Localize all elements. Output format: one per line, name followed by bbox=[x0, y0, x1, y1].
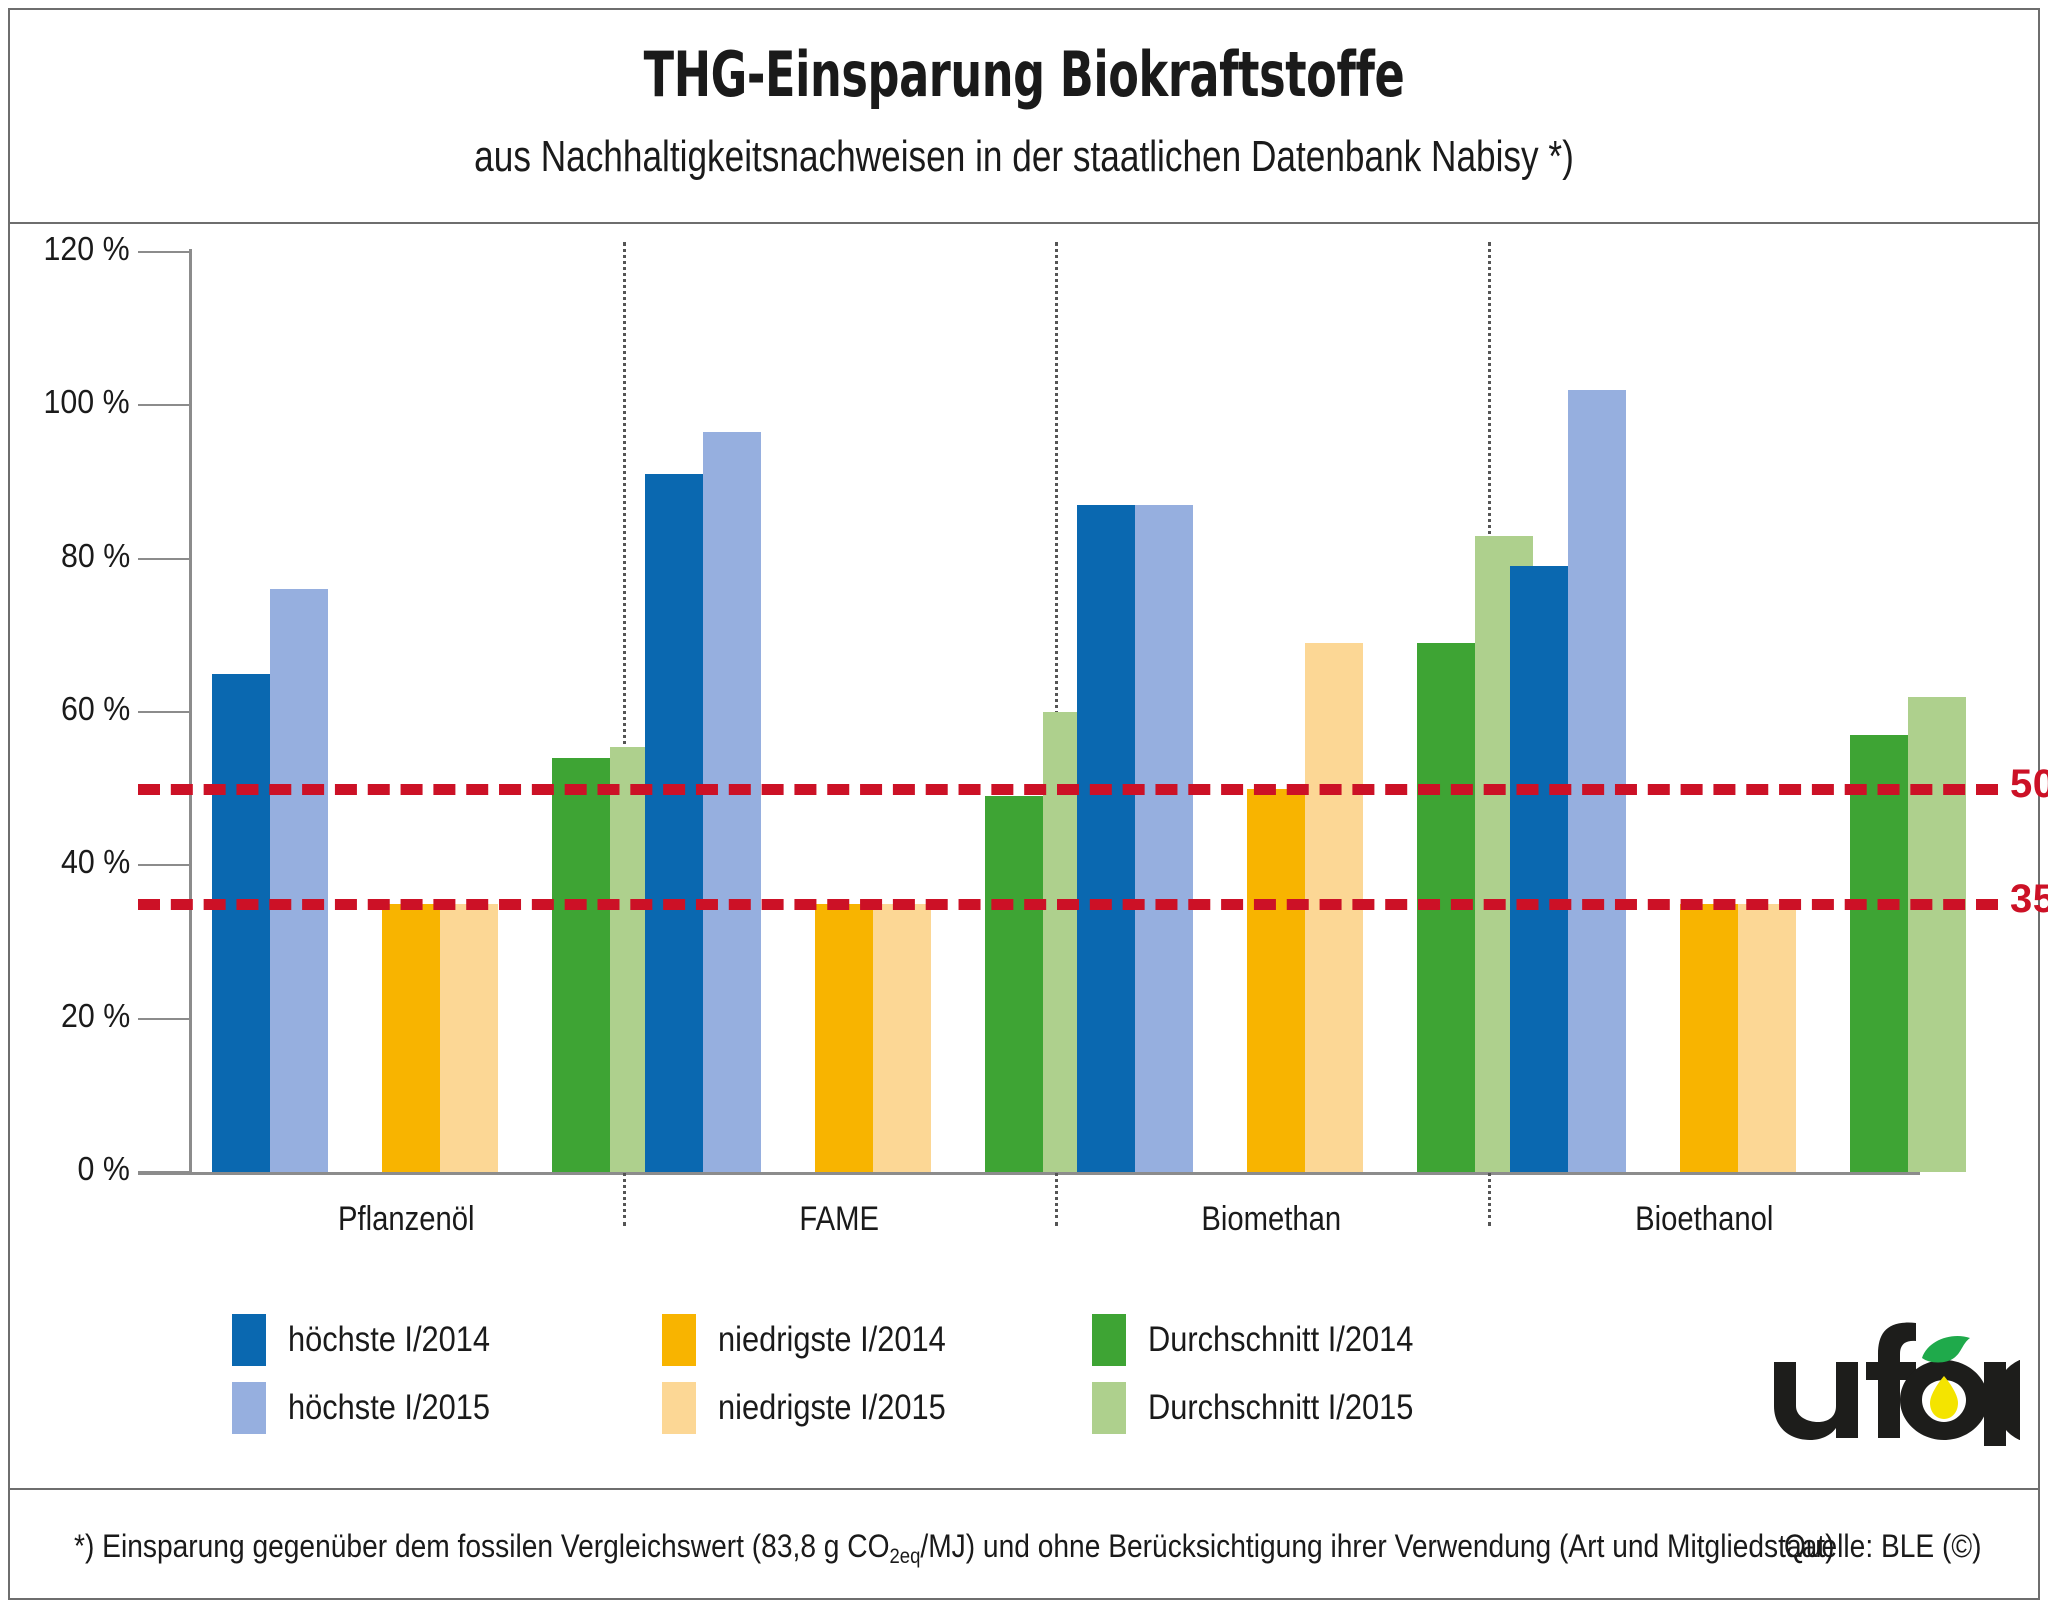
y-axis-tick-label: 20 % bbox=[61, 997, 130, 1035]
footnote-prefix: *) Einsparung gegenüber dem fossilen Ver… bbox=[74, 1528, 890, 1564]
x-axis-line bbox=[138, 1172, 1920, 1175]
bar bbox=[1908, 697, 1966, 1172]
plot-area: 0 %20 %40 %60 %80 %100 %120 % 50 %35 % P… bbox=[190, 252, 1920, 1172]
legend-label: Durchschnitt I/2014 bbox=[1148, 1320, 1413, 1360]
category-label: Biomethan bbox=[1085, 1200, 1457, 1239]
y-axis-tick bbox=[138, 711, 190, 713]
bar bbox=[1135, 505, 1193, 1172]
legend-swatch bbox=[232, 1382, 266, 1434]
y-axis-tick-label: 120 % bbox=[44, 230, 130, 268]
legend-item[interactable]: höchste I/2015 bbox=[232, 1382, 518, 1434]
legend-label: höchste I/2014 bbox=[288, 1320, 490, 1360]
legend-label: niedrigste I/2014 bbox=[718, 1320, 946, 1360]
bar bbox=[703, 432, 761, 1172]
bar bbox=[873, 904, 931, 1172]
reference-line-label: 35 % bbox=[2010, 877, 2048, 922]
bar bbox=[440, 904, 498, 1172]
bar bbox=[270, 589, 328, 1172]
y-axis-tick bbox=[138, 1018, 190, 1020]
y-axis-tick bbox=[138, 558, 190, 560]
legend-label: niedrigste I/2015 bbox=[718, 1388, 946, 1428]
legend-swatch bbox=[662, 1382, 696, 1434]
legend-label: höchste I/2015 bbox=[288, 1388, 490, 1428]
y-axis-tick bbox=[138, 251, 190, 253]
chart-title: THG-Einsparung Biokraftstoffe bbox=[205, 38, 1843, 111]
bar bbox=[815, 904, 873, 1172]
bar bbox=[552, 758, 610, 1172]
bar bbox=[382, 904, 440, 1172]
legend-item[interactable]: Durchschnitt I/2015 bbox=[1092, 1382, 1450, 1434]
bar bbox=[645, 474, 703, 1172]
bar bbox=[985, 796, 1043, 1172]
y-axis-tick bbox=[138, 1171, 190, 1173]
category-label: FAME bbox=[653, 1200, 1025, 1239]
footnote-text: *) Einsparung gegenüber dem fossilen Ver… bbox=[74, 1528, 1834, 1569]
bar bbox=[1077, 505, 1135, 1172]
reference-line-label: 50 % bbox=[2010, 762, 2048, 807]
footnote-subscript: 2eq bbox=[890, 1545, 921, 1568]
reference-line bbox=[138, 784, 1998, 795]
legend-item[interactable]: Durchschnitt I/2014 bbox=[1092, 1314, 1450, 1366]
legend-swatch bbox=[1092, 1382, 1126, 1434]
legend-item[interactable]: niedrigste I/2015 bbox=[662, 1382, 977, 1434]
legend-item[interactable]: höchste I/2014 bbox=[232, 1314, 518, 1366]
chart-subtitle: aus Nachhaltigkeitsnachweisen in der sta… bbox=[205, 132, 1843, 182]
legend-item[interactable]: niedrigste I/2014 bbox=[662, 1314, 977, 1366]
y-axis-labels: 0 %20 %40 %60 %80 %100 %120 % bbox=[0, 252, 130, 1172]
bar bbox=[1680, 904, 1738, 1172]
chart-legend: höchste I/2014höchste I/2015niedrigste I… bbox=[232, 1314, 1532, 1454]
title-divider bbox=[8, 222, 2040, 224]
y-axis-tick bbox=[138, 864, 190, 866]
bar bbox=[1247, 789, 1305, 1172]
category-label: Pflanzenöl bbox=[220, 1200, 592, 1239]
bar bbox=[1850, 735, 1908, 1172]
bar bbox=[1568, 390, 1626, 1172]
legend-swatch bbox=[1092, 1314, 1126, 1366]
source-text: Quelle: BLE (©) bbox=[1784, 1528, 1982, 1565]
bar bbox=[1510, 566, 1568, 1172]
y-axis-tick-label: 60 % bbox=[61, 690, 130, 728]
y-axis-tick-label: 80 % bbox=[61, 537, 130, 575]
y-axis-tick-label: 0 % bbox=[78, 1150, 130, 1188]
chart-page: THG-Einsparung Biokraftstoffe aus Nachha… bbox=[0, 0, 2048, 1608]
y-axis-tick-label: 40 % bbox=[61, 843, 130, 881]
footnote-suffix: /MJ) und ohne Berücksichtigung ihrer Ver… bbox=[920, 1528, 1834, 1564]
bar bbox=[1738, 904, 1796, 1172]
legend-label: Durchschnitt I/2015 bbox=[1148, 1388, 1413, 1428]
footnote-divider bbox=[8, 1488, 2040, 1490]
y-axis-tick-label: 100 % bbox=[44, 383, 130, 421]
reference-line bbox=[138, 899, 1998, 910]
legend-swatch bbox=[232, 1314, 266, 1366]
ufop-logo bbox=[1770, 1318, 2020, 1446]
bar bbox=[212, 674, 270, 1172]
legend-swatch bbox=[662, 1314, 696, 1366]
category-label: Bioethanol bbox=[1518, 1200, 1890, 1239]
y-axis-tick bbox=[138, 404, 190, 406]
